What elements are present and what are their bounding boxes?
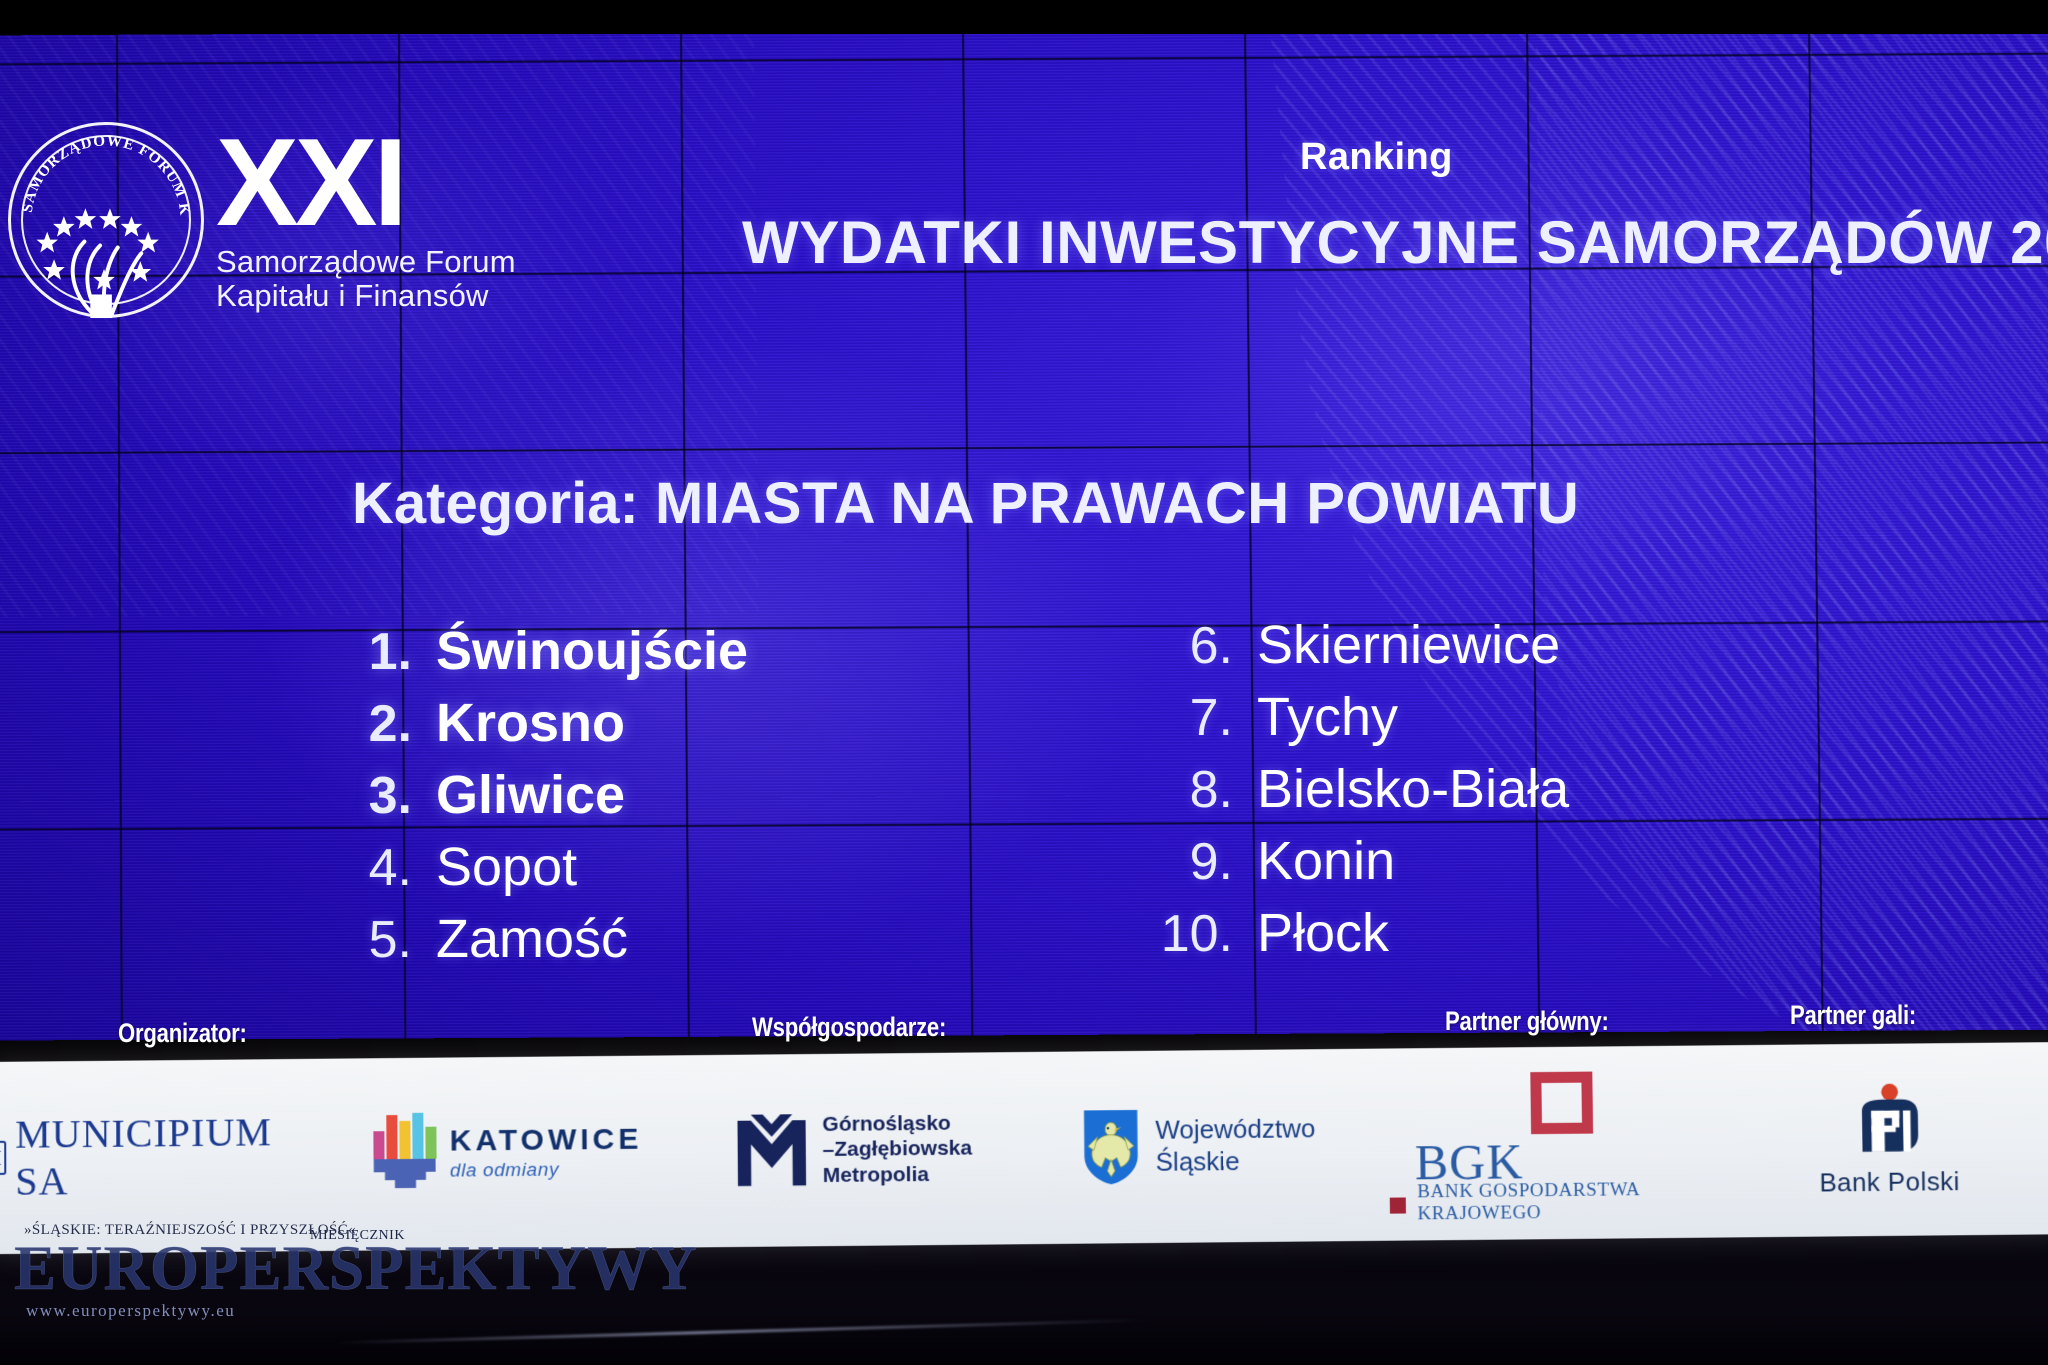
sponsor-cell-wojewodztwo-slaskie: Województwo Śląskie — [1025, 1049, 1372, 1245]
gzm-line-1: Górnośląsko — [822, 1110, 972, 1137]
wojewodztwo-wordmark: Województwo Śląskie — [1155, 1114, 1316, 1179]
bgk-subtitle-line-2: KRAJOWEGO — [1417, 1201, 1640, 1225]
ranking-kicker: Ranking — [1300, 136, 1453, 179]
ranking-city: Płock — [1257, 902, 1389, 964]
ranking-row: 2.Krosno — [340, 692, 810, 754]
ranking-position: 9. — [1145, 832, 1257, 892]
ranking-position: 4. — [340, 838, 436, 898]
ranking-city: Gliwice — [436, 764, 625, 826]
ranking-row: 9.Konin — [1145, 830, 1665, 892]
katowice-cup-icon — [374, 1159, 436, 1194]
wojewodztwo-line-1: Województwo — [1155, 1114, 1315, 1147]
ranking-city: Zamość — [436, 908, 628, 970]
europerspektywy-watermark: »ŚLĄSKIE: TERAŹNIEJSZOŚĆ I PRZYSZŁOŚĆ« E… — [14, 1222, 698, 1321]
ranking-row: 6.Skierniewice — [1145, 614, 1665, 676]
ranking-city: Konin — [1257, 830, 1395, 892]
katowice-logo: KATOWICE dla odmiany — [374, 1113, 643, 1194]
ranking-column-left: 1.Świnoujście2.Krosno3.Gliwice4.Sopot5.Z… — [340, 620, 810, 980]
bgk-subtitle: BANK GOSPODARSTWA KRAJOWEGO — [1417, 1179, 1641, 1225]
katowice-wordmark: KATOWICE — [450, 1123, 643, 1159]
municipium-logo: M MUNICIPIUM SA — [0, 1108, 336, 1206]
ranking-position: 7. — [1145, 688, 1257, 748]
forum-seal-logo: SAMORZĄDOWE FORUM KAPITAŁU I FINANSÓW — [8, 122, 204, 318]
katowice-tagline: dla odmiany — [450, 1159, 643, 1183]
gzm-logo: Górnośląsko –Zagłębiowska Metropolia — [734, 1110, 972, 1190]
wojewodztwo-line-2: Śląskie — [1156, 1145, 1316, 1178]
category-label: Kategoria: — [352, 471, 639, 536]
ranking-row: 1.Świnoujście — [340, 620, 810, 682]
pko-mark-icon — [1851, 1082, 1926, 1163]
ranking-row: 8.Bielsko-Biała — [1145, 758, 1665, 820]
category-value: MIASTA NA PRAWACH POWIATU — [655, 471, 1579, 536]
ranking-position: 2. — [340, 694, 436, 754]
ranking-city: Tychy — [1257, 686, 1398, 748]
sponsor-cell-bgk: BGK BANK GOSPODARSTWA KRAJOWEGO — [1370, 1045, 1718, 1241]
silesian-eagle-crest-icon — [1081, 1108, 1140, 1187]
katowice-wordmark-block: KATOWICE dla odmiany — [450, 1123, 643, 1183]
seal-artwork: SAMORZĄDOWE FORUM KAPITAŁU I FINANSÓW — [8, 122, 204, 318]
ranking-position: 1. — [340, 622, 436, 682]
bgk-subtitle-line-1: BANK GOSPODARSTWA — [1417, 1179, 1640, 1203]
svg-text:SAMORZĄDOWE FORUM KAPITAŁU I F: SAMORZĄDOWE FORUM KAPITAŁU I FINANSÓW — [8, 122, 194, 217]
ranking-position: 8. — [1145, 760, 1257, 820]
ranking-position: 5. — [340, 910, 436, 970]
watermark-tagline: »ŚLĄSKIE: TERAŹNIEJSZOŚĆ I PRZYSZŁOŚĆ« — [24, 1222, 698, 1239]
ranking-row: 5.Zamość — [340, 908, 810, 970]
ranking-row: 3.Gliwice — [340, 764, 810, 826]
watermark-title: EUROPERSPEKTYWY — [14, 1239, 698, 1299]
edition-lockup: XXI Samorządowe Forum Kapitału i Finansó… — [216, 130, 556, 314]
sponsor-label-cohosts: Współgospodarze: — [752, 1012, 946, 1043]
category-line: Kategoria: MIASTA NA PRAWACH POWIATU — [352, 470, 1579, 537]
watermark-url: www.europerspektywy.eu — [26, 1301, 698, 1321]
sponsor-label-organizer: Organizator: — [118, 1018, 247, 1049]
gzm-wordmark: Górnośląsko –Zagłębiowska Metropolia — [822, 1110, 972, 1188]
municipium-wordmark: MUNICIPIUM SA — [15, 1108, 336, 1205]
municipium-mark-icon: M — [0, 1141, 6, 1175]
ranking-position: 10. — [1145, 904, 1257, 964]
ranking-row: 7.Tychy — [1145, 686, 1665, 748]
ranking-city: Bielsko-Biała — [1257, 758, 1569, 820]
katowice-mark-icon — [374, 1115, 436, 1194]
ranking-city: Krosno — [436, 692, 625, 754]
wojewodztwo-slaskie-logo: Województwo Śląskie — [1081, 1106, 1316, 1186]
ranking-column-right: 6.Skierniewice7.Tychy8.Bielsko-Biała9.Ko… — [1145, 614, 1665, 974]
gzm-line-2: –Zagłębiowska — [822, 1136, 972, 1163]
organization-line-1: Samorządowe Forum — [216, 245, 556, 280]
bgk-logo: BGK BANK GOSPODARSTWA KRAJOWEGO — [1388, 1067, 1700, 1220]
edition-numeral: XXI — [216, 130, 556, 237]
bgk-dot-icon — [1389, 1197, 1405, 1213]
sponsor-label-main-partner: Partner główny: — [1445, 1006, 1609, 1037]
page-title: WYDATKI INWESTYCYJNE SAMORZĄDÓW 2023 — [742, 208, 2048, 277]
ranking-city: Sopot — [436, 836, 577, 898]
sponsor-cell-pko: Bank Polski — [1715, 1042, 2048, 1238]
pko-wordmark: Bank Polski — [1819, 1166, 1960, 1198]
gzm-m-icon — [734, 1111, 809, 1190]
ranking-row: 10.Płock — [1145, 902, 1665, 964]
presentation-photo: SAMORZĄDOWE FORUM KAPITAŁU I FINANSÓW — [0, 0, 2048, 1365]
ranking-position: 3. — [340, 766, 436, 826]
gzm-line-3: Metropolia — [823, 1161, 973, 1188]
pko-bank-polski-logo: Bank Polski — [1818, 1082, 1960, 1198]
ranking-city: Skierniewice — [1257, 614, 1560, 676]
sponsor-cell-gzm: Górnośląsko –Zagłębiowska Metropolia — [680, 1052, 1027, 1248]
ranking-row: 4.Sopot — [340, 836, 810, 898]
organization-line-2: Kapitału i Finansów — [216, 279, 556, 314]
sponsor-label-gala-partner: Partner gali: — [1790, 1000, 1916, 1031]
bgk-square-icon — [1530, 1072, 1593, 1135]
ranking-city: Świnoujście — [436, 620, 748, 682]
photo-top-letterbox — [0, 0, 2048, 34]
ranking-position: 6. — [1145, 616, 1257, 676]
organization-name: Samorządowe Forum Kapitału i Finansów — [216, 245, 556, 314]
